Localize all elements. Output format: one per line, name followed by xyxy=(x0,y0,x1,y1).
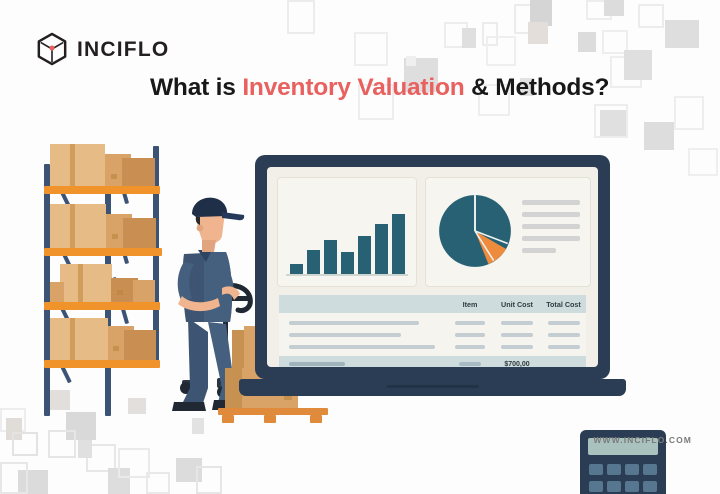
deco-square xyxy=(354,32,388,66)
calculator-key[interactable] xyxy=(607,481,621,492)
deco-square xyxy=(146,472,170,494)
legend-line xyxy=(522,248,556,253)
deco-square xyxy=(196,466,222,494)
pie-chart xyxy=(436,192,514,270)
bar xyxy=(324,240,337,274)
bar-chart-panel xyxy=(277,177,417,287)
illustration-scene: Item Unit Cost Total Cost xyxy=(0,130,720,430)
legend-line xyxy=(522,224,580,229)
site-url: WWW.INCIFLO.COM xyxy=(593,435,692,445)
pallet-foot xyxy=(222,415,234,423)
brand-wordmark: INCIFLO xyxy=(77,39,169,60)
column-header-unit-cost: Unit Cost xyxy=(493,300,541,309)
deco-square xyxy=(528,22,548,44)
bar-chart xyxy=(288,194,408,274)
title-suffix: & Methods? xyxy=(465,74,610,101)
deco-square xyxy=(674,96,704,130)
deco-square xyxy=(48,430,76,458)
table-body xyxy=(279,313,586,356)
laptop-base xyxy=(239,379,626,396)
column-header-item: Item xyxy=(447,300,493,309)
bar xyxy=(307,250,320,274)
pallet-foot xyxy=(264,415,276,423)
calculator-key[interactable] xyxy=(589,481,603,492)
deco-square xyxy=(578,32,596,52)
bar xyxy=(290,264,303,274)
column-header-total-cost: Total Cost xyxy=(541,300,586,309)
poster-canvas: INCIFLO What is Inventory Valuation & Me… xyxy=(0,0,720,494)
pie-chart-panel xyxy=(425,177,591,287)
laptop-device: Item Unit Cost Total Cost xyxy=(255,155,610,415)
total-cost-value: $700,00 xyxy=(493,361,541,368)
deco-square xyxy=(638,4,664,28)
deco-square xyxy=(604,0,624,16)
brand-logo: INCIFLO xyxy=(36,32,169,66)
cost-table: Item Unit Cost Total Cost xyxy=(279,295,586,367)
calculator-key[interactable] xyxy=(643,481,657,492)
pallet-foot xyxy=(310,415,322,423)
deco-square xyxy=(0,462,28,494)
table-total-row: $700,00 xyxy=(279,356,586,367)
deco-square xyxy=(12,432,38,456)
calculator-key[interactable] xyxy=(625,464,639,475)
deco-square xyxy=(462,28,476,48)
calculator-key[interactable] xyxy=(589,464,603,475)
table-row xyxy=(279,319,586,327)
deco-square xyxy=(406,56,416,66)
calculator-key[interactable] xyxy=(607,464,621,475)
table-row xyxy=(279,343,586,351)
table-row xyxy=(279,331,586,339)
bar xyxy=(375,224,388,274)
bar xyxy=(341,252,354,274)
calculator-key[interactable] xyxy=(643,464,657,475)
table-header-row: Item Unit Cost Total Cost xyxy=(279,295,586,313)
deco-square xyxy=(486,36,516,66)
calculator-key[interactable] xyxy=(625,481,639,492)
laptop-screen: Item Unit Cost Total Cost xyxy=(267,167,598,367)
deco-square xyxy=(665,20,699,48)
title-prefix: What is xyxy=(150,74,242,101)
bar xyxy=(392,214,405,274)
page-title: What is Inventory Valuation & Methods? xyxy=(150,74,670,102)
bar xyxy=(358,236,371,274)
deco-square xyxy=(78,440,92,458)
cube-hexagon-icon xyxy=(36,32,68,66)
legend-line xyxy=(522,236,580,241)
deco-square xyxy=(287,0,315,34)
title-highlight: Inventory Valuation xyxy=(242,74,464,101)
legend-line xyxy=(522,200,580,205)
legend-line xyxy=(522,212,580,217)
